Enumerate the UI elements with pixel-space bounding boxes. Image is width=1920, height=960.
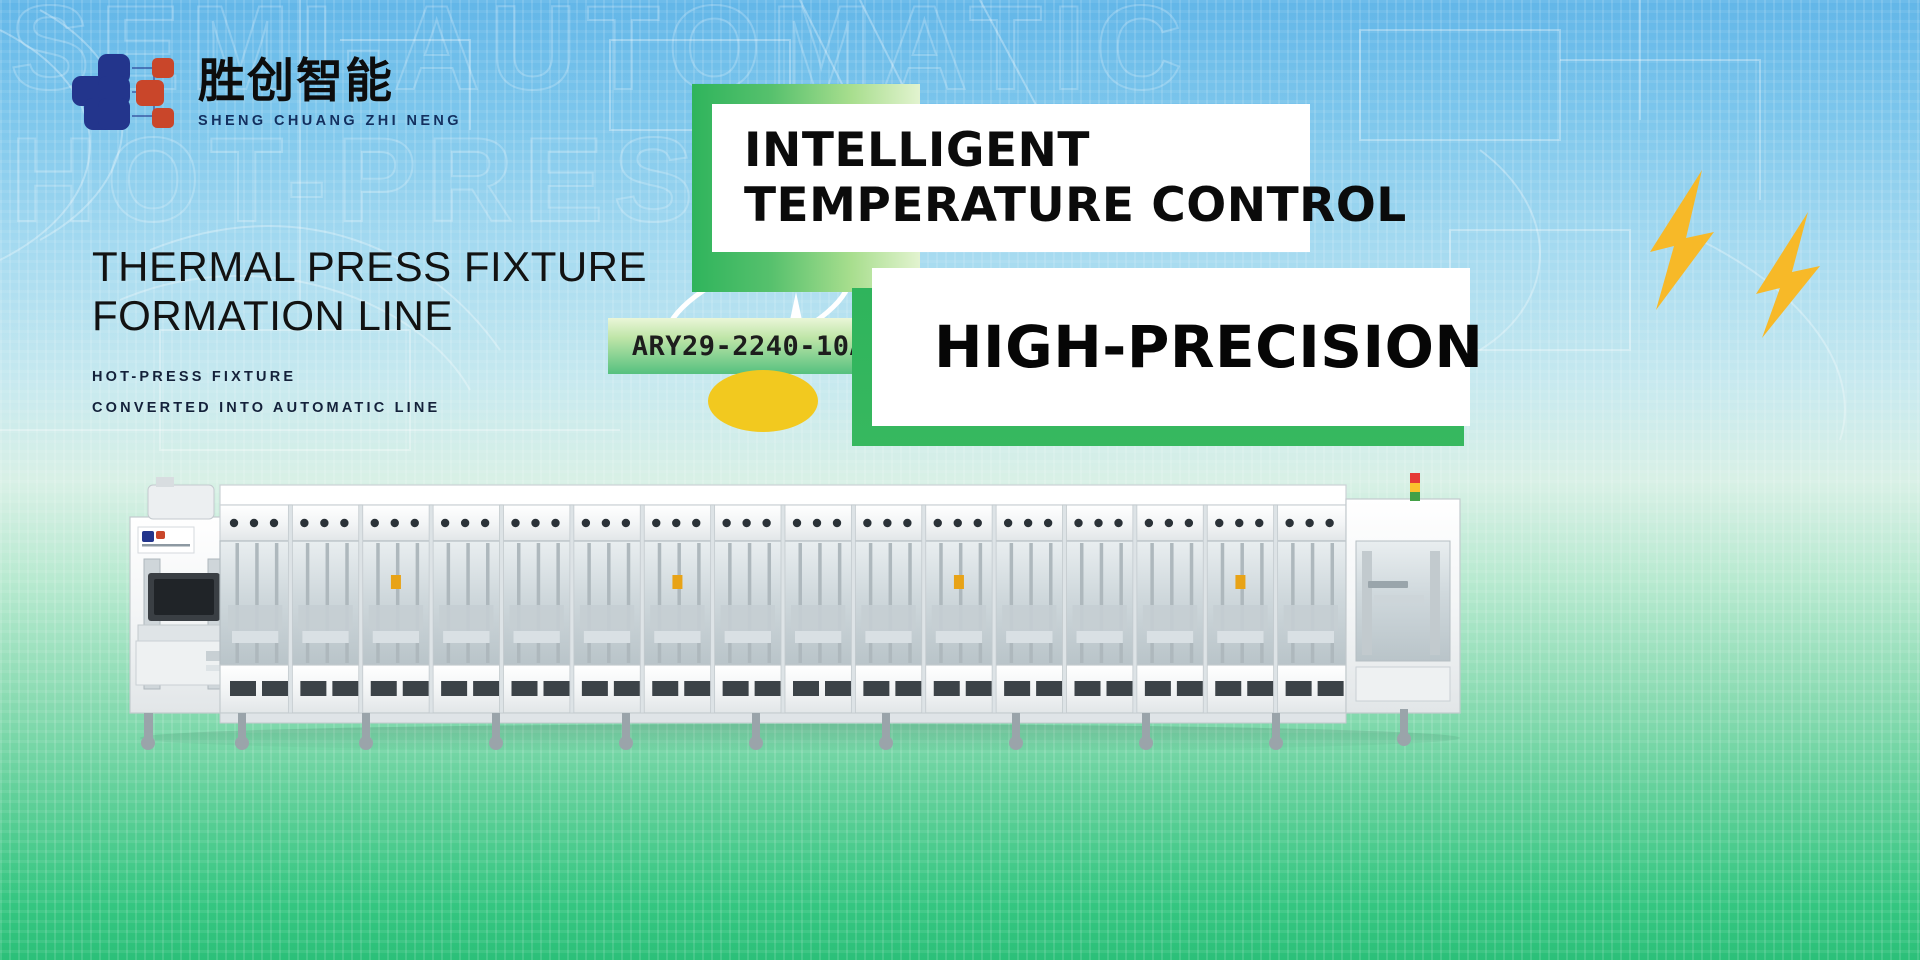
feature-bottom-text: HIGH-PRECISION xyxy=(934,313,1483,381)
company-logo: 胜创智能 SHENG CHUANG ZHI NENG xyxy=(70,52,462,134)
yellow-ellipse-decoration xyxy=(708,370,818,432)
logo-pinyin: SHENG CHUANG ZHI NENG xyxy=(198,113,462,129)
model-number-text: ARY29-2240-10A xyxy=(632,331,867,362)
logo-text-block: 胜创智能 SHENG CHUANG ZHI NENG xyxy=(198,52,462,129)
logo-mark-icon xyxy=(70,52,182,134)
product-title-line2: FORMATION LINE xyxy=(92,291,647,340)
logo-chinese-name: 胜创智能 xyxy=(198,58,462,105)
feature-top-line1: INTELLIGENT xyxy=(744,123,1310,178)
product-title-line1: THERMAL PRESS FIXTURE xyxy=(92,242,647,291)
product-title-block: THERMAL PRESS FIXTURE FORMATION LINE HOT… xyxy=(92,242,647,423)
product-subtitle-line2: CONVERTED INTO AUTOMATIC LINE xyxy=(92,393,647,423)
promo-banner: SEMI-AUTOMATIC HOT-PRESS xyxy=(0,0,1920,960)
feature-top-card: INTELLIGENT TEMPERATURE CONTROL xyxy=(712,104,1310,252)
feature-bottom-card: HIGH-PRECISION xyxy=(872,268,1470,426)
feature-top-line2: TEMPERATURE CONTROL xyxy=(744,178,1310,233)
machine-product-image xyxy=(110,455,1480,760)
lightning-bolt-icon xyxy=(1630,160,1840,355)
model-number-badge: ARY29-2240-10A xyxy=(608,318,890,374)
product-subtitle-line1: HOT-PRESS FIXTURE xyxy=(92,362,647,392)
